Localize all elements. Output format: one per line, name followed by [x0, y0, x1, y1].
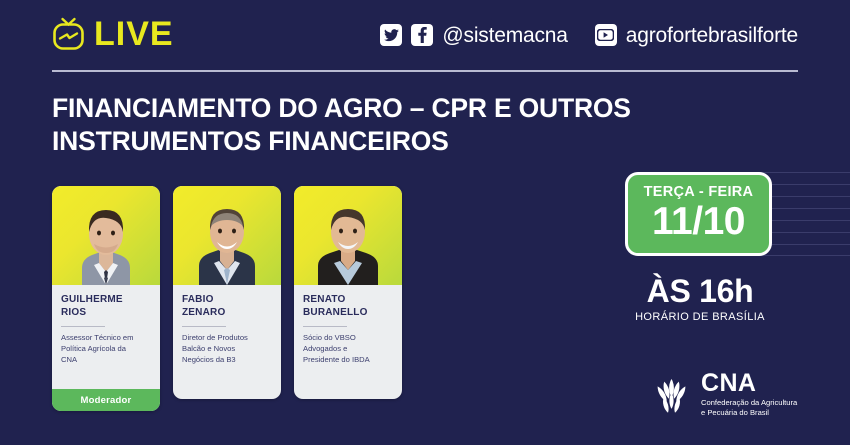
speaker-card-list: GUILHERME RIOS Assessor Técnico em Polít… — [52, 186, 402, 411]
speaker-name: GUILHERME RIOS — [61, 294, 151, 320]
speaker-photo — [294, 186, 402, 285]
speaker-card[interactable]: FABIO ZENARO Diretor de Produtos Balcão … — [173, 186, 281, 399]
event-date-box: TERÇA - FEIRA 11/10 — [625, 172, 772, 256]
event-date: 11/10 — [652, 202, 745, 243]
cna-wheat-icon — [650, 373, 693, 416]
youtube-icon[interactable] — [595, 24, 617, 46]
speaker-photo — [173, 186, 281, 285]
youtube-handle[interactable]: agrofortebrasilforte — [626, 25, 798, 46]
speaker-rule — [182, 326, 226, 327]
event-time: ÀS 16h — [595, 275, 805, 309]
speaker-card[interactable]: RENATO BURANELLO Sócio do VBSO Advogados… — [294, 186, 402, 399]
facebook-icon[interactable] — [411, 24, 433, 46]
speaker-photo — [52, 186, 160, 285]
title-line-1: FINANCIAMENTO DO AGRO – CPR E OUTROS — [52, 92, 742, 125]
event-time-block: ÀS 16h HORÁRIO DE BRASÍLIA — [595, 275, 805, 323]
speaker-rule — [303, 326, 347, 327]
speaker-role: Assessor Técnico em Política Agrícola da… — [61, 332, 151, 365]
speaker-info: FABIO ZENARO Diretor de Produtos Balcão … — [173, 285, 281, 399]
live-label: LIVE — [94, 17, 174, 51]
title-line-2: INSTRUMENTOS FINANCEIROS — [52, 125, 742, 158]
speaker-info: GUILHERME RIOS Assessor Técnico em Polít… — [52, 285, 160, 389]
cna-logo: CNA Confederação da Agricultura e Pecuár… — [650, 371, 797, 418]
header-divider — [52, 70, 798, 72]
twitter-icon[interactable] — [380, 24, 402, 46]
twitter-handle[interactable]: @sistemacna — [442, 25, 567, 46]
event-timezone: HORÁRIO DE BRASÍLIA — [595, 311, 805, 323]
event-weekday: TERÇA - FEIRA — [644, 185, 754, 200]
speaker-name: FABIO ZENARO — [182, 294, 272, 320]
moderator-badge: Moderador — [52, 389, 160, 411]
social-handles: @sistemacna agrofortebrasilforte — [380, 24, 798, 46]
speaker-rule — [61, 326, 105, 327]
speaker-card[interactable]: GUILHERME RIOS Assessor Técnico em Polít… — [52, 186, 160, 411]
cna-name: CNA — [701, 371, 797, 396]
cna-tagline: Confederação da Agricultura e Pecuária d… — [701, 398, 797, 418]
live-event-poster: LIVE @sistemacna agrofortebras — [0, 0, 850, 445]
page-title: FINANCIAMENTO DO AGRO – CPR E OUTROS INS… — [52, 92, 742, 158]
speaker-name: RENATO BURANELLO — [303, 294, 393, 320]
speaker-role: Diretor de Produtos Balcão e Novos Negóc… — [182, 332, 272, 365]
speaker-role: Sócio do VBSO Advogados e Presidente do … — [303, 332, 393, 365]
cna-wordmark: CNA Confederação da Agricultura e Pecuár… — [701, 371, 797, 418]
live-badge: LIVE — [52, 17, 174, 51]
igtv-icon — [52, 17, 85, 51]
poster-header: LIVE @sistemacna agrofortebras — [0, 0, 850, 78]
speaker-info: RENATO BURANELLO Sócio do VBSO Advogados… — [294, 285, 402, 399]
